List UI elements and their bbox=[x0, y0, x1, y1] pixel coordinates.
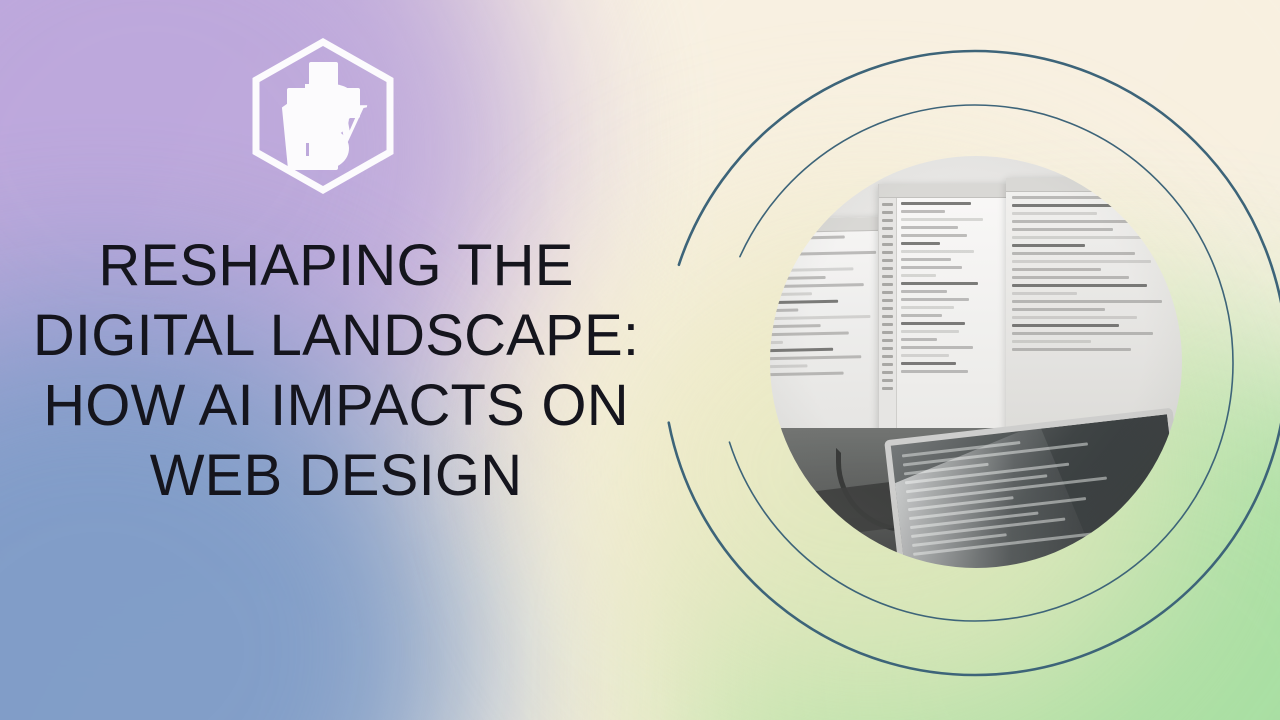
photo-vignette bbox=[770, 156, 1182, 568]
svg-text:W: W bbox=[314, 93, 368, 155]
slide-canvas: W Reshaping the Digital Landscape: How A… bbox=[0, 0, 1280, 720]
page-title: Reshaping the Digital Landscape: How AI … bbox=[26, 231, 646, 511]
code-editor-workspace-photo bbox=[770, 156, 1182, 568]
cover-photo bbox=[770, 156, 1182, 568]
bw-hexagon-monogram-icon: W bbox=[243, 36, 403, 196]
